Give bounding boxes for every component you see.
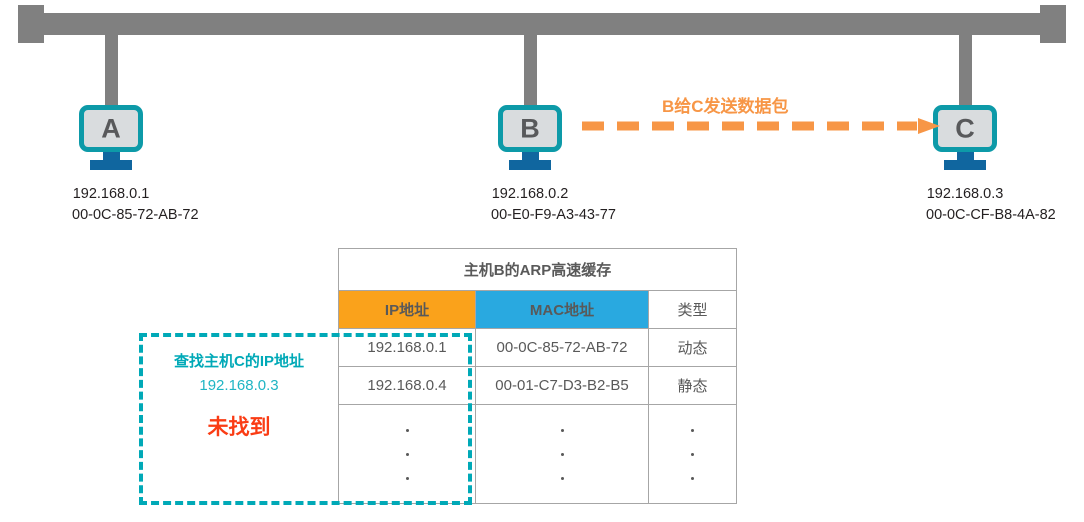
- host-b-mac: 00-E0-F9-A3-43-77: [491, 205, 569, 226]
- lookup-annotation-text: 查找主机C的IP地址 192.168.0.3 未找到: [139, 350, 339, 441]
- drop-line-host-c: [959, 33, 972, 113]
- column-header-mac: MAC地址: [476, 291, 649, 329]
- monitor-stand-base-a: [90, 160, 132, 170]
- row-0-mac: 00-0C-85-72-AB-72: [476, 329, 649, 367]
- host-c-letter: C: [938, 115, 992, 142]
- lookup-result-not-found: 未找到: [139, 411, 339, 441]
- host-a-ip: 192.168.0.1: [72, 184, 150, 205]
- monitor-icon-a: A: [79, 105, 143, 152]
- host-a-mac: 00-0C-85-72-AB-72: [72, 205, 150, 226]
- packet-arrow-label: B给C发送数据包: [662, 92, 789, 117]
- row-1-mac: 00-01-C7-D3-B2-B5: [476, 367, 649, 405]
- column-header-type: 类型: [649, 291, 737, 329]
- packet-flow-arrow: B给C发送数据包: [582, 118, 942, 134]
- lookup-query-ip: 192.168.0.3: [139, 377, 339, 394]
- monitor-stand-base-c: [944, 160, 986, 170]
- bus-cable: [18, 13, 1066, 35]
- host-a[interactable]: A 192.168.0.1 00-0C-85-72-AB-72: [72, 105, 150, 226]
- lookup-query-label: 查找主机C的IP地址: [139, 350, 339, 371]
- host-c-ip: 192.168.0.3: [926, 184, 1004, 205]
- host-c-mac: 00-0C-CF-B8-4A-82: [926, 205, 1004, 226]
- monitor-stand-neck-b: [522, 152, 539, 160]
- bus-terminator-left: [18, 5, 44, 43]
- monitor-stand-base-b: [509, 160, 551, 170]
- arp-table-title-row: 主机B的ARP高速缓存: [339, 249, 737, 291]
- row-1-type: 静态: [649, 367, 737, 405]
- network-diagram-canvas: A 192.168.0.1 00-0C-85-72-AB-72 B 192.16…: [0, 0, 1084, 522]
- host-b-ip: 192.168.0.2: [491, 184, 569, 205]
- row-0-type: 动态: [649, 329, 737, 367]
- arp-table-title: 主机B的ARP高速缓存: [339, 249, 737, 291]
- bus-terminator-right: [1040, 5, 1066, 43]
- arp-table-header-row: IP地址 MAC地址 类型: [339, 291, 737, 329]
- host-a-letter: A: [84, 115, 138, 142]
- monitor-icon-c: C: [933, 105, 997, 152]
- host-b[interactable]: B 192.168.0.2 00-E0-F9-A3-43-77: [491, 105, 569, 226]
- drop-line-host-a: [105, 33, 118, 113]
- drop-line-host-b: [524, 33, 537, 113]
- monitor-stand-neck-c: [957, 152, 974, 160]
- monitor-icon-b: B: [498, 105, 562, 152]
- column-header-ip: IP地址: [339, 291, 476, 329]
- ellipsis-mac: [476, 405, 649, 504]
- ellipsis-type: [649, 405, 737, 504]
- dashed-arrow-icon: [582, 118, 942, 134]
- host-b-letter: B: [503, 115, 557, 142]
- monitor-stand-neck-a: [103, 152, 120, 160]
